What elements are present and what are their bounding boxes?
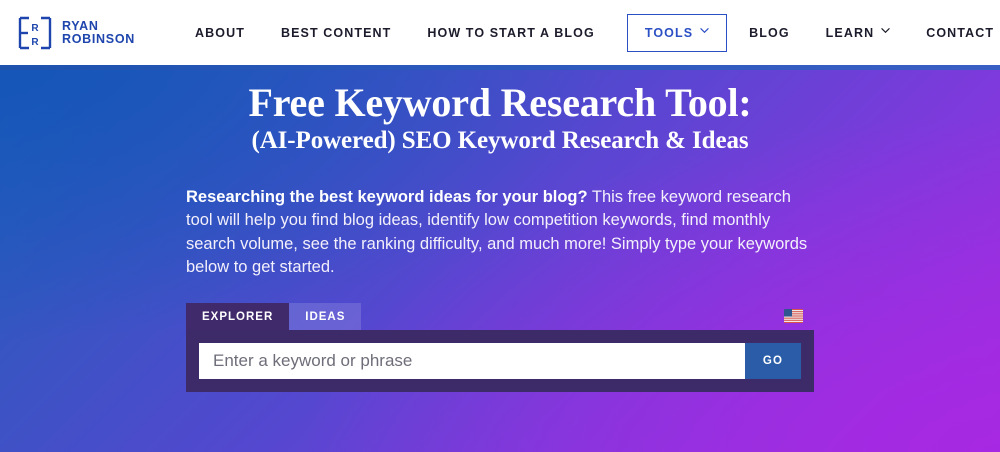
nav-label-blog: BLOG [749, 26, 790, 40]
header-accent-rule [0, 65, 1000, 70]
keyword-search-widget: EXPLORER IDEAS GO [186, 303, 814, 392]
keyword-search-input[interactable] [199, 343, 745, 379]
logo-line-2: ROBINSON [62, 33, 135, 46]
page-root: R R RYAN ROBINSON ABOUT BEST CONTENT HOW… [0, 0, 1000, 452]
nav-label-how-to-start-a-blog: HOW TO START A BLOG [427, 26, 594, 40]
nav-label-tools: TOOLS [645, 26, 693, 40]
search-panel: GO [186, 330, 814, 392]
tab-ideas-label: IDEAS [305, 311, 345, 323]
nav-item-how-to-start-a-blog[interactable]: HOW TO START A BLOG [427, 26, 594, 40]
hero-description: Researching the best keyword ideas for y… [186, 186, 816, 280]
nav-item-tools[interactable]: TOOLS [627, 14, 727, 52]
site-logo[interactable]: R R RYAN ROBINSON [18, 16, 135, 50]
hero-description-lead: Researching the best keyword ideas for y… [186, 188, 588, 206]
svg-text:R: R [31, 23, 39, 34]
us-flag-icon[interactable] [784, 309, 803, 323]
logo-wordmark: RYAN ROBINSON [62, 20, 135, 46]
go-button[interactable]: GO [745, 343, 801, 379]
nav-item-learn[interactable]: LEARN [826, 26, 891, 40]
main-nav: ABOUT BEST CONTENT HOW TO START A BLOG T… [195, 0, 994, 65]
hero-section: Free Keyword Research Tool: (AI-Powered)… [0, 65, 1000, 452]
site-header: R R RYAN ROBINSON ABOUT BEST CONTENT HOW… [0, 0, 1000, 65]
tab-explorer-label: EXPLORER [202, 311, 273, 323]
nav-item-best-content[interactable]: BEST CONTENT [281, 26, 391, 40]
page-subtitle: (AI-Powered) SEO Keyword Research & Idea… [0, 127, 1000, 155]
tab-ideas[interactable]: IDEAS [289, 303, 361, 330]
tab-explorer[interactable]: EXPLORER [186, 303, 289, 330]
nav-label-best-content: BEST CONTENT [281, 26, 391, 40]
nav-item-contact[interactable]: CONTACT [926, 26, 994, 40]
nav-item-blog[interactable]: BLOG [749, 26, 790, 40]
svg-text:R: R [31, 37, 39, 48]
nav-label-learn: LEARN [826, 26, 875, 40]
chevron-down-icon [700, 26, 709, 35]
nav-label-contact: CONTACT [926, 26, 994, 40]
nav-label-about: ABOUT [195, 26, 245, 40]
page-title: Free Keyword Research Tool: [0, 81, 1000, 124]
chevron-down-icon [881, 26, 890, 35]
nav-item-about[interactable]: ABOUT [195, 26, 245, 40]
ryan-robinson-monogram-icon: R R [18, 16, 52, 50]
widget-tabs: EXPLORER IDEAS [186, 303, 814, 330]
